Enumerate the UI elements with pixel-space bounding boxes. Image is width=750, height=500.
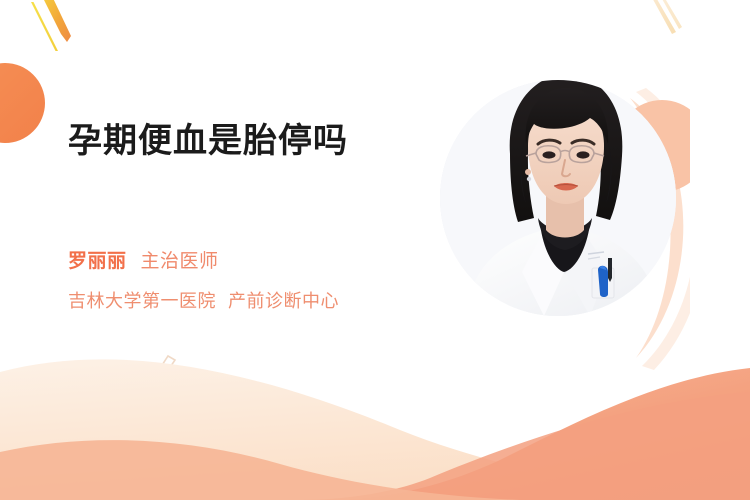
doctor-portrait xyxy=(440,58,690,378)
doctor-rank: 主治医师 xyxy=(141,251,219,272)
diagonal-stroke-amber-icon xyxy=(42,0,71,42)
doctor-name: 罗丽丽 xyxy=(68,251,127,272)
department-name: 产前诊断中心 xyxy=(228,291,339,311)
cream-stroke-decoration xyxy=(650,0,682,34)
doctor-affiliation-line: 吉林大学第一医院产前诊断中心 xyxy=(68,288,339,314)
hospital-name: 吉林大学第一医院 xyxy=(68,291,216,311)
title-block: 孕期便血是胎停吗 xyxy=(68,118,468,164)
video-thumbnail-card: 孕期便血是胎停吗 罗丽丽主治医师 吉林大学第一医院产前诊断中心 xyxy=(0,0,750,500)
page-title: 孕期便血是胎停吗 xyxy=(68,118,468,164)
orange-circle-decoration xyxy=(0,63,45,143)
doctor-identity-line: 罗丽丽主治医师 xyxy=(68,248,219,276)
